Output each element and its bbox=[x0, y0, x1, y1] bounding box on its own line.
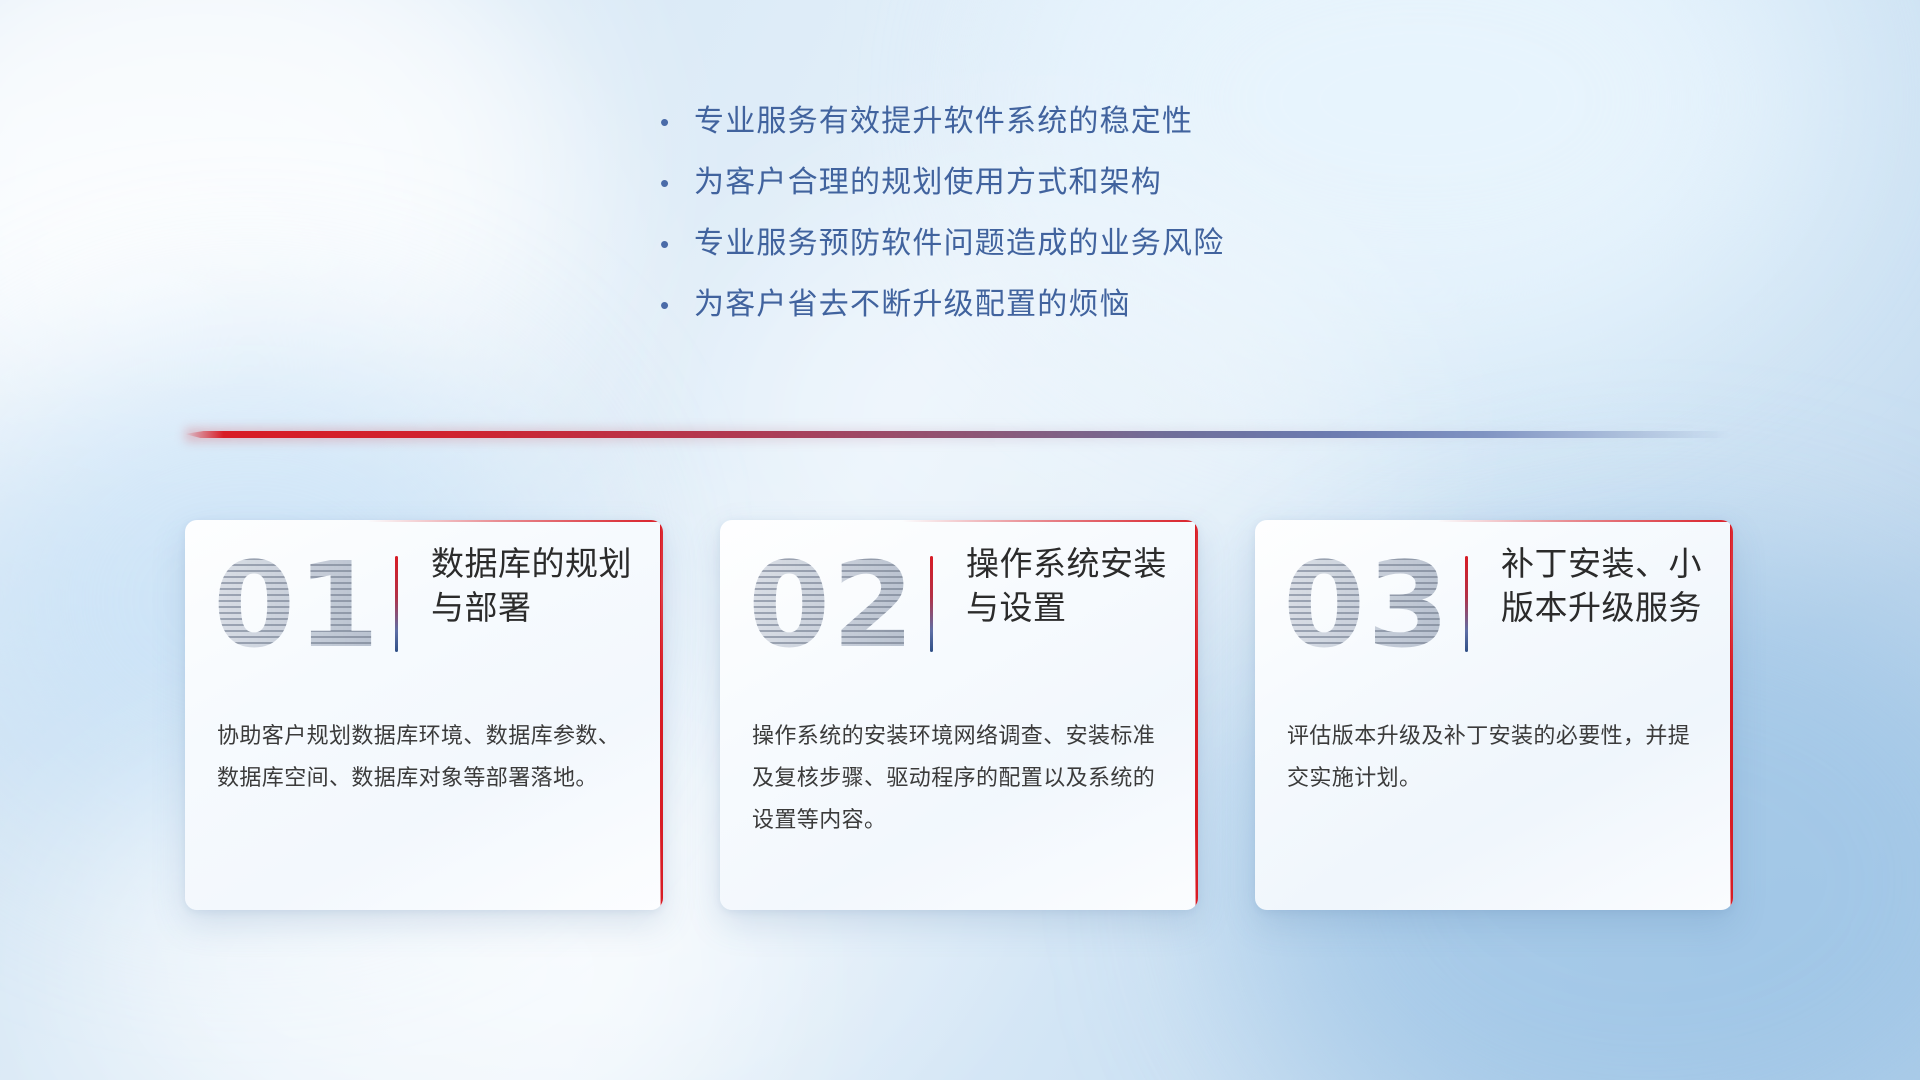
card-body-text: 操作系统的安装环境网络调查、安装标准及复核步骤、驱动程序的配置以及系统的设置等内… bbox=[752, 716, 1170, 843]
slide-canvas: • 专业服务有效提升软件系统的稳定性 • 为客户合理的规划使用方式和架构 • 专… bbox=[0, 0, 1920, 1080]
card-header: 02 操作系统安装与设置 bbox=[720, 520, 1198, 698]
card-number-watermark: 01 bbox=[213, 546, 381, 664]
service-card-03[interactable]: 03 补丁安装、小版本升级服务 评估版本升级及补丁安装的必要性，并提交实施计划。 bbox=[1255, 520, 1733, 910]
bullet-dot-icon: • bbox=[660, 170, 694, 196]
bullet-text: 为客户省去不断升级配置的烦恼 bbox=[694, 288, 1131, 321]
card-number-watermark: 03 bbox=[1283, 546, 1451, 664]
card-number-watermark: 02 bbox=[748, 546, 916, 664]
list-item: • 为客户合理的规划使用方式和架构 bbox=[660, 166, 1420, 199]
bullet-dot-icon: • bbox=[660, 231, 694, 257]
card-title-rule bbox=[1465, 556, 1468, 652]
bullet-text: 为客户合理的规划使用方式和架构 bbox=[694, 166, 1162, 199]
card-title: 数据库的规划与部署 bbox=[431, 542, 641, 630]
service-card-02[interactable]: 02 操作系统安装与设置 操作系统的安装环境网络调查、安装标准及复核步骤、驱动程… bbox=[720, 520, 1198, 910]
list-item: • 专业服务预防软件问题造成的业务风险 bbox=[660, 227, 1420, 260]
section-divider bbox=[185, 428, 1730, 442]
card-title: 补丁安装、小版本升级服务 bbox=[1501, 542, 1711, 630]
list-item: • 专业服务有效提升软件系统的稳定性 bbox=[660, 105, 1420, 138]
card-title: 操作系统安装与设置 bbox=[966, 542, 1176, 630]
background-glow-top-left bbox=[0, 0, 580, 480]
bullet-text: 专业服务预防软件问题造成的业务风险 bbox=[694, 227, 1224, 260]
benefits-bullet-list: • 专业服务有效提升软件系统的稳定性 • 为客户合理的规划使用方式和架构 • 专… bbox=[660, 105, 1420, 349]
bullet-dot-icon: • bbox=[660, 109, 694, 135]
card-body-text: 协助客户规划数据库环境、数据库参数、数据库空间、数据库对象等部署落地。 bbox=[217, 716, 635, 800]
service-card-row: 01 数据库的规划与部署 协助客户规划数据库环境、数据库参数、数据库空间、数据库… bbox=[185, 520, 1735, 910]
divider-line bbox=[185, 431, 1730, 438]
service-card-01[interactable]: 01 数据库的规划与部署 协助客户规划数据库环境、数据库参数、数据库空间、数据库… bbox=[185, 520, 663, 910]
card-header: 01 数据库的规划与部署 bbox=[185, 520, 663, 698]
card-title-rule bbox=[930, 556, 933, 652]
card-title-rule bbox=[395, 556, 398, 652]
card-header: 03 补丁安装、小版本升级服务 bbox=[1255, 520, 1733, 698]
bullet-dot-icon: • bbox=[660, 292, 694, 318]
list-item: • 为客户省去不断升级配置的烦恼 bbox=[660, 288, 1420, 321]
bullet-text: 专业服务有效提升软件系统的稳定性 bbox=[694, 105, 1193, 138]
card-body-text: 评估版本升级及补丁安装的必要性，并提交实施计划。 bbox=[1287, 716, 1705, 800]
